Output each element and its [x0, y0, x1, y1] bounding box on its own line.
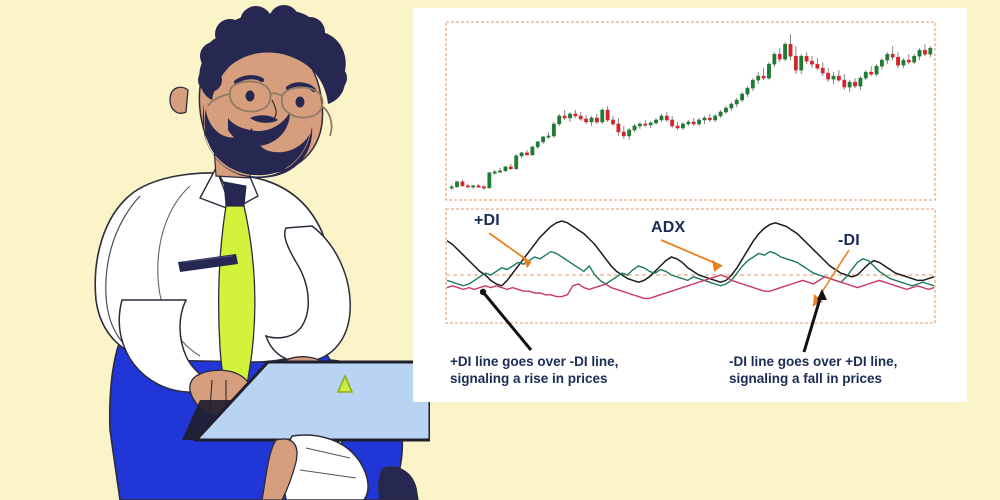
label-minus-di: -DI	[838, 232, 860, 250]
price-panel-frame	[446, 22, 935, 200]
label-adx: ADX	[651, 219, 685, 237]
label-plus-di: +DI	[474, 212, 500, 230]
caption-bearish-crossover: -DI line goes over +DI line, signaling a…	[729, 353, 897, 387]
screenshot-root: +DI ADX -DI +DI line goes over -DI line,…	[0, 0, 1000, 500]
adx-panel-frame	[446, 209, 935, 323]
adx-chart-figure	[0, 0, 1000, 500]
caption-bullish-crossover: +DI line goes over -DI line, signaling a…	[450, 353, 618, 387]
